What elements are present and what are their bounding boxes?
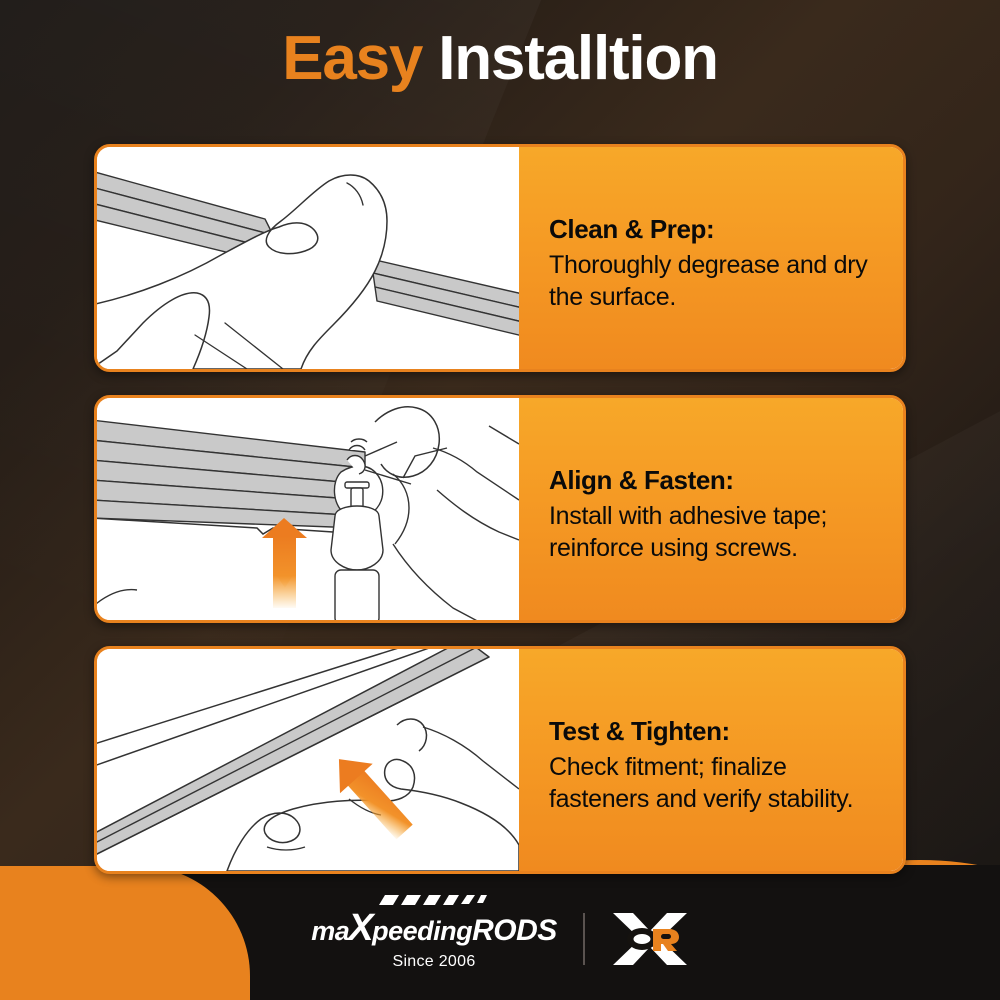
- step-text-panel: Test & Tighten: Check fitment; finalize …: [519, 649, 903, 871]
- step-card[interactable]: Clean & Prep: Thoroughly degrease and dr…: [94, 144, 906, 372]
- brand-peeding: peeding: [372, 916, 472, 947]
- footer: ma X peeding RODS Since 2006: [0, 896, 1000, 982]
- screwdriver-fastening-rail-illustration: [97, 398, 519, 620]
- step-card[interactable]: Test & Tighten: Check fitment; finalize …: [94, 646, 906, 874]
- brand-rods: RODS: [472, 914, 557, 948]
- hand-wiping-rail-illustration: [97, 147, 519, 369]
- steps-list: Clean & Prep: Thoroughly degrease and dr…: [94, 144, 906, 897]
- step-text-panel: Align & Fasten: Install with adhesive ta…: [519, 398, 903, 620]
- step-card[interactable]: Align & Fasten: Install with adhesive ta…: [94, 395, 906, 623]
- footer-divider: [583, 913, 585, 965]
- step-text-panel: Clean & Prep: Thoroughly degrease and dr…: [519, 147, 903, 369]
- brand-tagline: Since 2006: [392, 953, 475, 971]
- hand-pressing-rail-illustration: [97, 649, 519, 871]
- speed-streaks-icon: [377, 894, 487, 909]
- or-badge-logo: [611, 911, 689, 967]
- step-body: Install with adhesive tape; reinforce us…: [549, 500, 877, 564]
- brand-x: X: [348, 907, 373, 950]
- page-title-rest: Installtion: [438, 24, 718, 93]
- page-title: Easy Installtion: [0, 26, 1000, 91]
- brand-ma: ma: [311, 916, 349, 947]
- step-body: Check fitment; finalize fasteners and ve…: [549, 751, 877, 815]
- step-title: Clean & Prep:: [549, 214, 877, 245]
- page-title-accent: Easy: [282, 24, 422, 93]
- step-title: Test & Tighten:: [549, 716, 877, 747]
- brand-block: ma X peeding RODS Since 2006: [311, 907, 557, 971]
- step-body: Thoroughly degrease and dry the surface.: [549, 249, 877, 313]
- step-title: Align & Fasten:: [549, 465, 877, 496]
- maxpeedingrods-logo: ma X peeding RODS: [311, 907, 557, 950]
- header: Easy Installtion: [0, 26, 1000, 91]
